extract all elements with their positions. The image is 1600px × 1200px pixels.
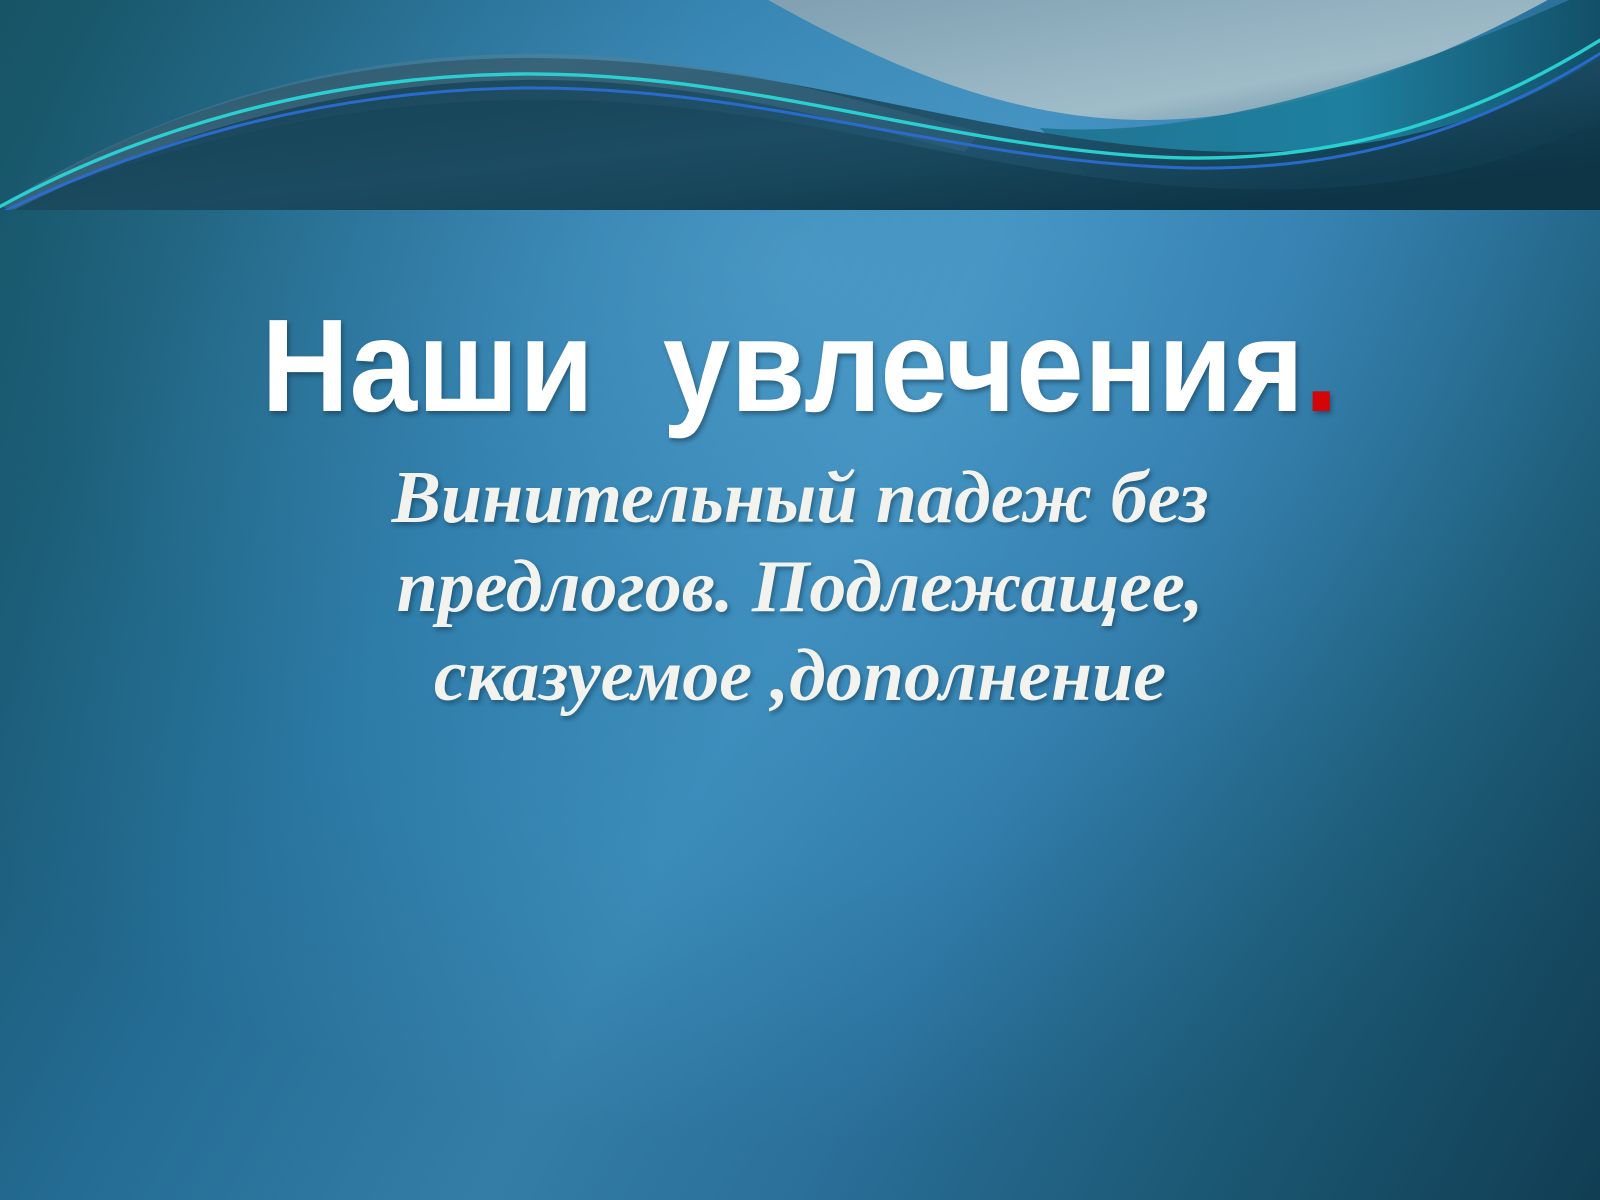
slide-subtitle: Винительный падеж без предлогов. Подлежа… xyxy=(235,454,1365,720)
wave-teal-band-right xyxy=(1040,0,1600,182)
subtitle-line-2: предлогов. Подлежащее, xyxy=(235,543,1365,632)
accent-cyan-line xyxy=(0,34,1600,210)
title-slide-text-block: Наши увлечения. Винительный падеж без пр… xyxy=(0,300,1600,720)
presentation-slide: Наши увлечения. Винительный падеж без пр… xyxy=(0,0,1600,1200)
accent-blue-line xyxy=(0,46,1600,210)
wave-dark-secondary-swoosh xyxy=(0,100,1600,210)
page-title-terminator: . xyxy=(1304,292,1338,439)
flow-theme-wave-decoration xyxy=(0,0,1600,210)
page-title: Наши увлечения. xyxy=(64,300,1536,432)
wave-light-upper-shape xyxy=(700,0,1600,120)
wave-dark-main-swoosh xyxy=(0,58,1600,210)
subtitle-line-3: сказуемое ,дополнение xyxy=(235,632,1365,721)
wave-slate-sliver xyxy=(0,54,980,210)
subtitle-line-1: Винительный падеж без xyxy=(235,454,1365,543)
page-title-text: Наши увлечения xyxy=(261,292,1304,439)
wave-svg xyxy=(0,0,1600,210)
